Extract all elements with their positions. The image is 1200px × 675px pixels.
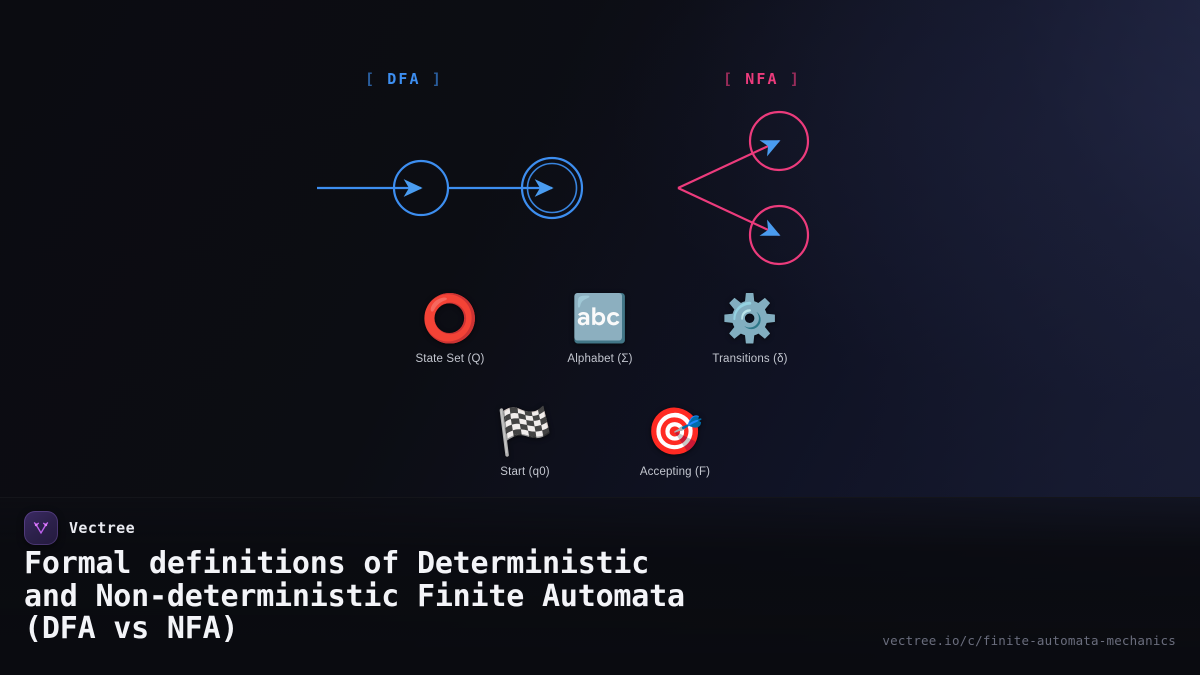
brand-name: Vectree [69, 519, 135, 537]
concept-row-secondary: 🏁 Start (q0) 🎯 Accepting (F) [0, 405, 1200, 478]
dfa-graph [317, 158, 582, 218]
concept-accepting-state: 🎯 Accepting (F) [600, 405, 750, 478]
concept-start-state: 🏁 Start (q0) [450, 405, 600, 478]
concept-row-primary: ⭕ State Set (Q) 🔤 Alphabet (Σ) ⚙️ Transi… [0, 292, 1200, 365]
abc-blocks-icon: 🔤 [571, 292, 628, 344]
concept-alphabet: 🔤 Alphabet (Σ) [525, 292, 675, 365]
gear-icon: ⚙️ [721, 292, 778, 344]
concept-label-start-state: Start (q0) [500, 466, 549, 478]
nfa-graph [678, 112, 808, 264]
concept-transitions: ⚙️ Transitions (δ) [675, 292, 825, 365]
hollow-red-circle-icon: ⭕ [421, 292, 478, 344]
vectree-logo-icon [24, 511, 58, 545]
page-title: Formal definitions of Deterministic and … [24, 548, 854, 646]
concept-label-state-set: State Set (Q) [415, 353, 484, 365]
brand-row[interactable]: Vectree [24, 511, 135, 545]
concept-label-accepting-state: Accepting (F) [640, 466, 710, 478]
checkered-flag-icon: 🏁 [496, 405, 553, 457]
automata-diagram [0, 0, 1200, 300]
source-url: vectree.io/c/finite-automata-mechanics [882, 633, 1176, 648]
bullseye-dart-icon: 🎯 [646, 405, 703, 457]
concept-label-alphabet: Alphabet (Σ) [567, 353, 632, 365]
poster-canvas: [ DFA ] [ NFA ] ⭕ [0, 0, 1200, 675]
concept-label-transitions: Transitions (δ) [712, 353, 787, 365]
footer-band: Vectree Formal definitions of Determinis… [0, 497, 1200, 675]
concept-state-set: ⭕ State Set (Q) [375, 292, 525, 365]
vectree-v-tree-glyph [30, 517, 52, 539]
